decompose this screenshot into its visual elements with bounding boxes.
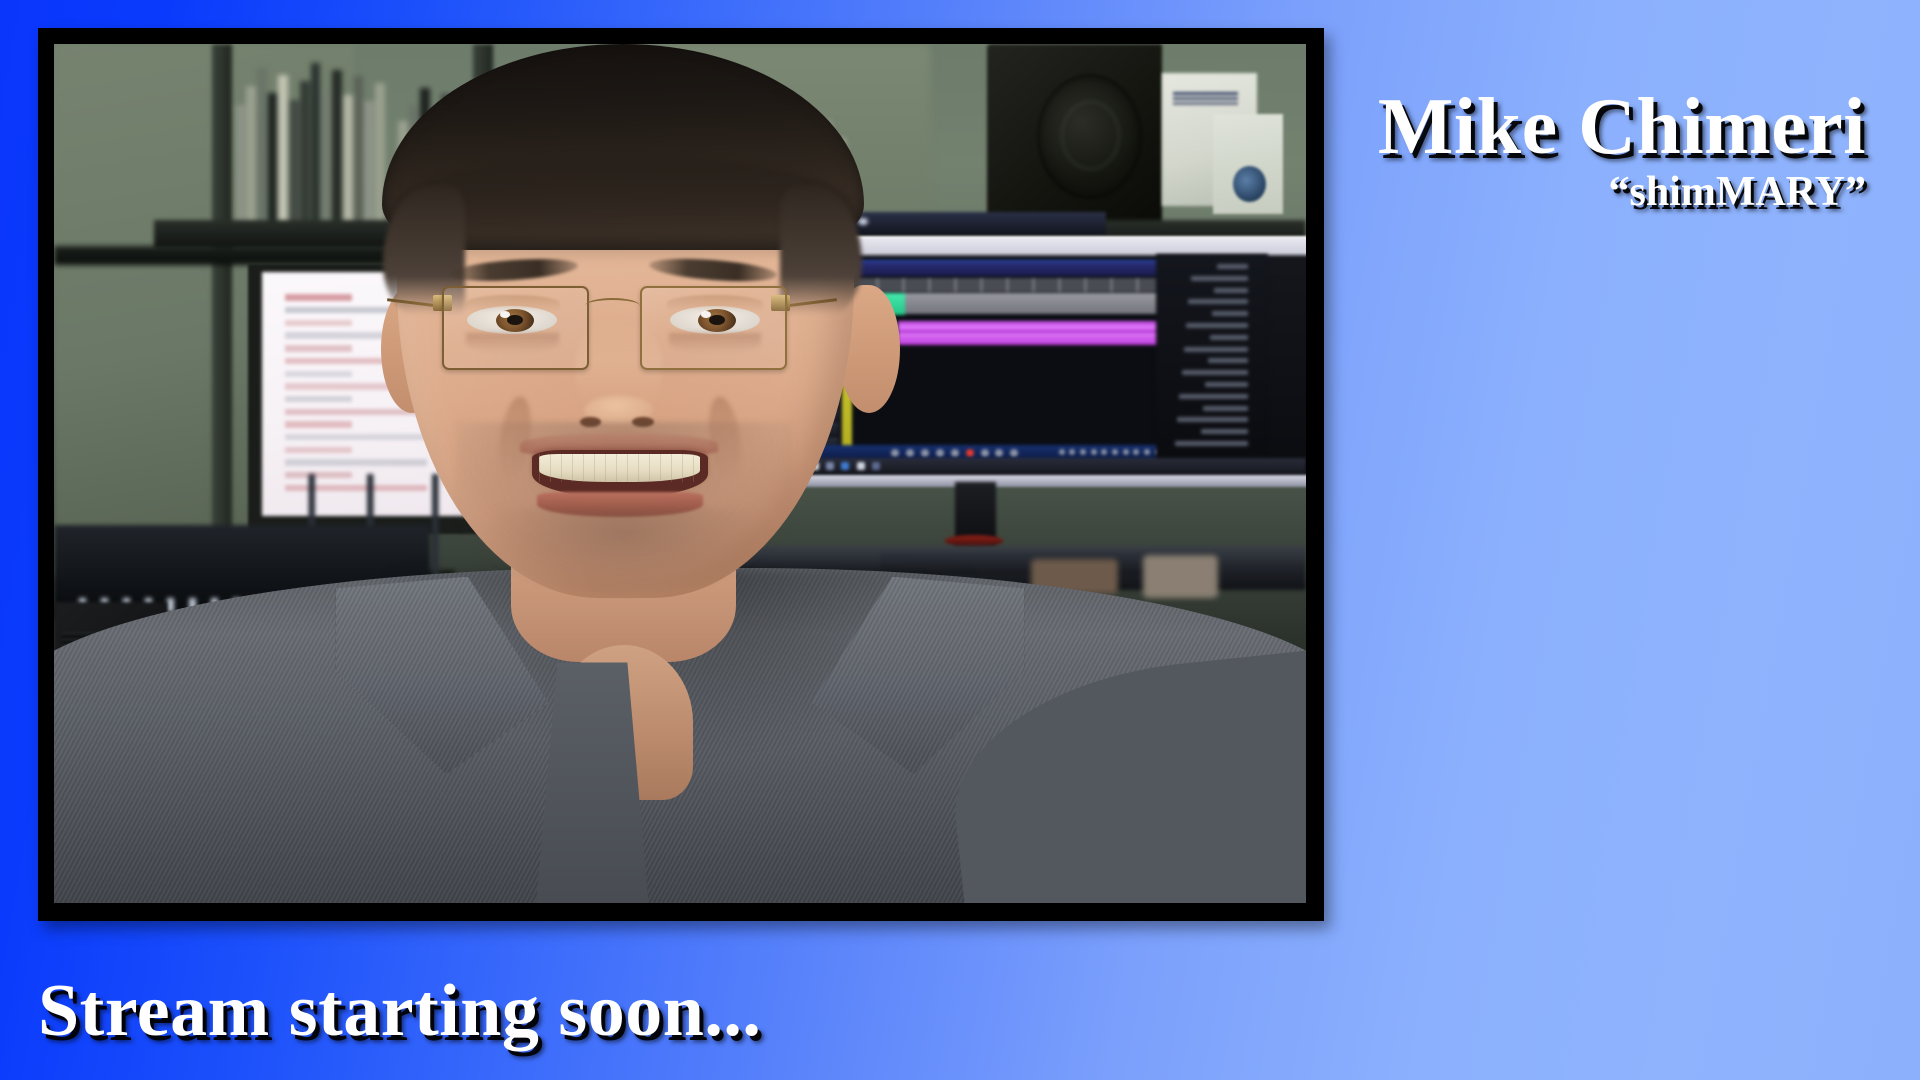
teeth (539, 454, 700, 482)
webcam-frame (38, 28, 1324, 921)
stream-starting-soon-screen: Mike Chimeri “shimMARY” Stream starting … (0, 0, 1920, 1080)
streamer-title-block: Mike Chimeri “shimMARY” (1378, 88, 1866, 218)
mouth (532, 450, 707, 498)
streamer-handle: “shimMARY” (1378, 168, 1866, 218)
subject-person (54, 44, 1306, 903)
webcam-feed (54, 44, 1306, 903)
glasses-lens-right (640, 286, 787, 370)
streamer-name: Mike Chimeri (1378, 88, 1866, 166)
stream-status-text: Stream starting soon... (38, 974, 761, 1048)
chin-shadow (480, 508, 768, 594)
glasses-bridge (585, 298, 640, 314)
glasses-lens-left (442, 286, 589, 370)
